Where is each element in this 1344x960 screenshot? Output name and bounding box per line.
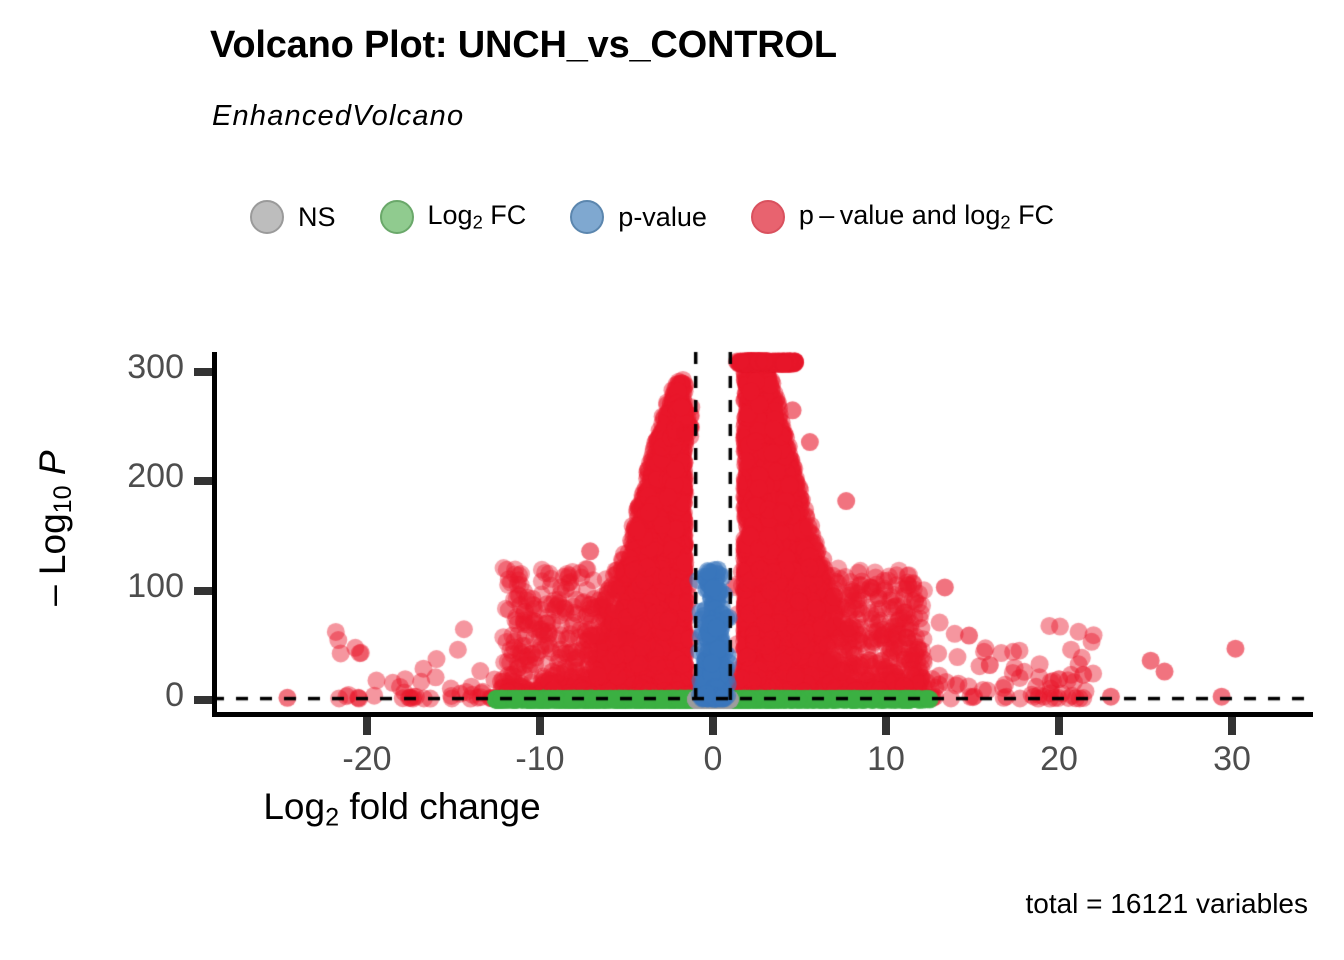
x-tick-label: 20: [979, 740, 1139, 779]
x-tick: [882, 717, 890, 735]
x-axis-title: Log2 fold change: [0, 786, 1344, 832]
y-tick: [194, 696, 212, 704]
x-tick-label: 10: [806, 740, 966, 779]
total-variables-caption: total = 16121 variables: [1025, 888, 1308, 920]
volcano-plot-figure: Volcano Plot: UNCH_vs_CONTROL EnhancedVo…: [0, 0, 1344, 960]
x-axis-line: [212, 712, 1313, 717]
x-tick: [536, 717, 544, 735]
y-axis-line: [212, 352, 217, 717]
x-tick-label: -10: [460, 740, 620, 779]
x-tick-label: 30: [1152, 740, 1312, 779]
x-tick: [1055, 717, 1063, 735]
y-axis-title: – Log10 P: [32, 363, 78, 693]
y-tick: [194, 587, 212, 595]
x-tick: [1228, 717, 1236, 735]
y-tick: [194, 368, 212, 376]
y-tick: [194, 477, 212, 485]
x-tick: [709, 717, 717, 735]
x-tick-label: -20: [287, 740, 447, 779]
x-tick-label: 0: [633, 740, 793, 779]
x-tick: [363, 717, 371, 735]
